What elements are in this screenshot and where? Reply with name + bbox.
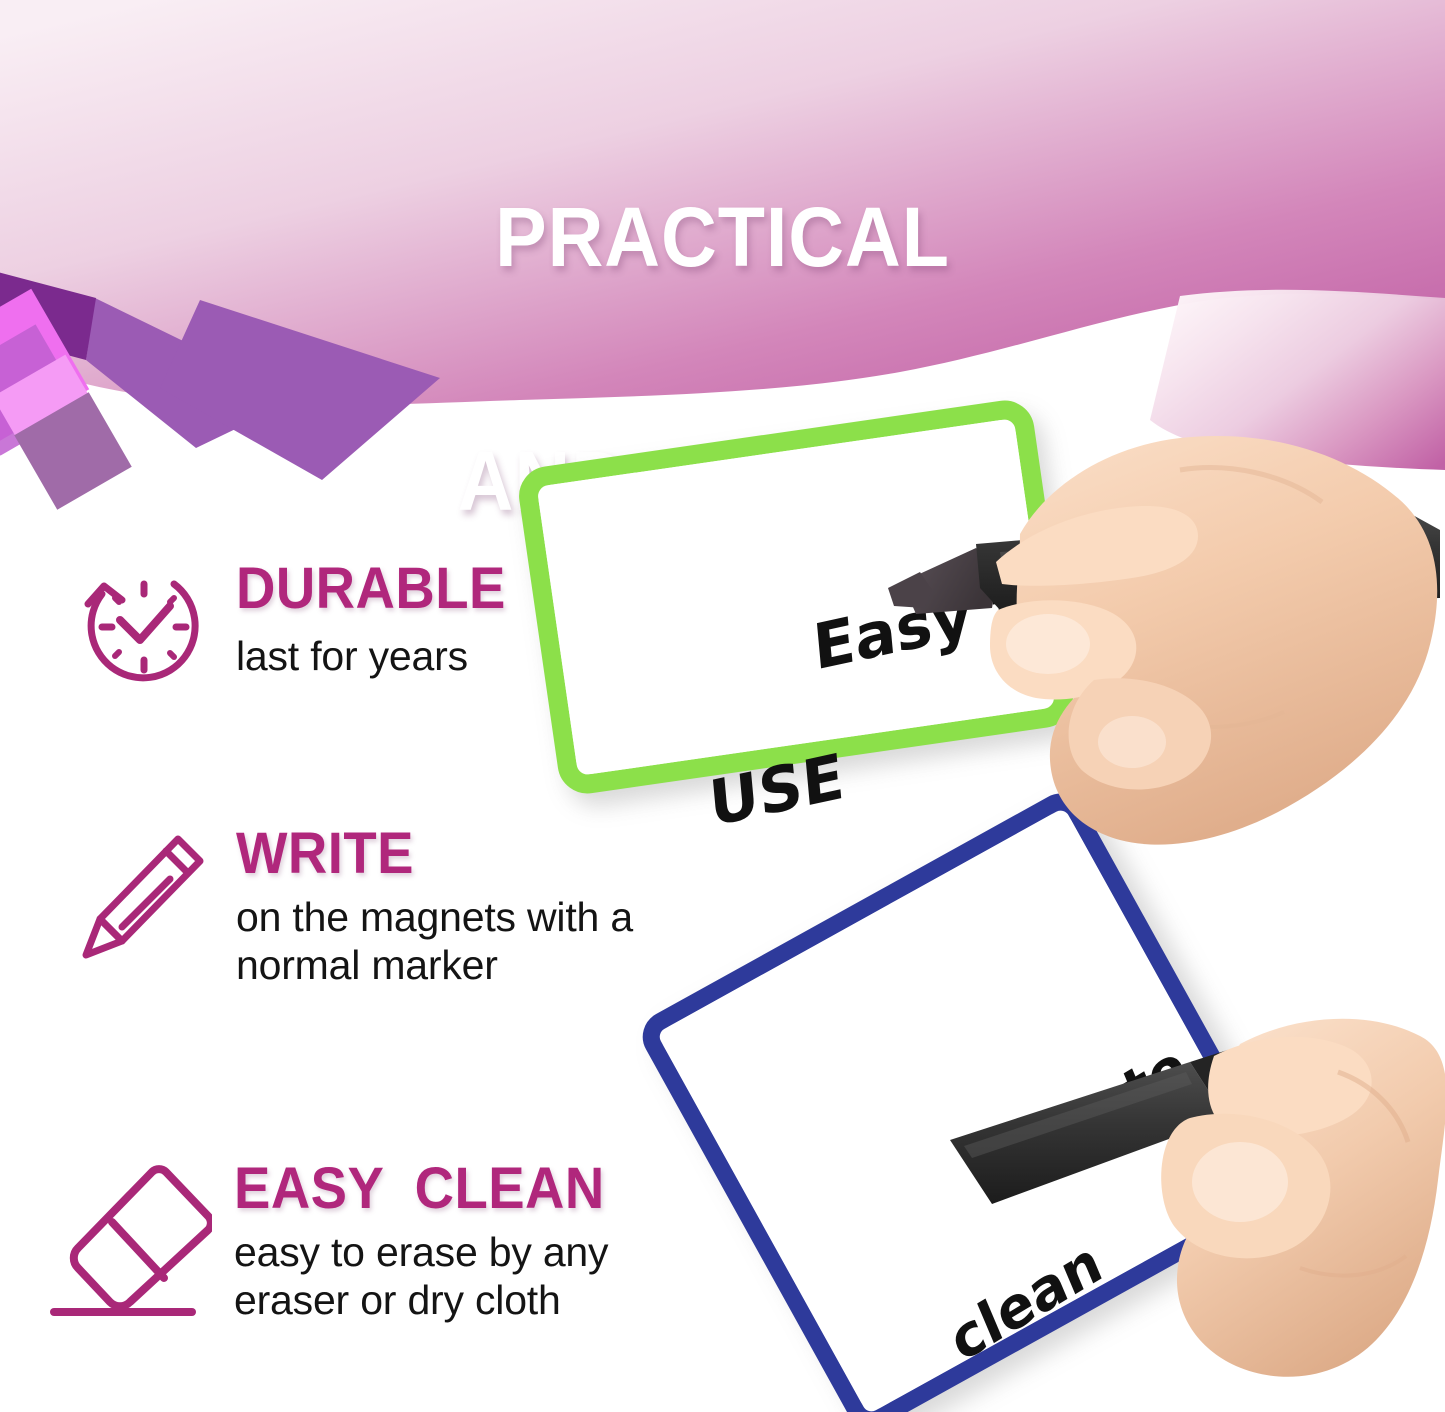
feature-easy-clean: EASY CLEAN easy to erase by any eraser o…: [42, 1160, 628, 1325]
feature-write-heading: WRITE: [236, 825, 609, 883]
feature-easy-clean-subtext: easy to erase by any eraser or dry cloth: [234, 1228, 628, 1325]
thumb-nail-2: [1192, 1142, 1288, 1222]
infographic-canvas: PRACTICAL AND USEFUL: [0, 0, 1445, 1412]
feature-easy-clean-text: EASY CLEAN easy to erase by any eraser o…: [234, 1160, 628, 1325]
eraser-icon: [42, 1160, 212, 1325]
clock-check-icon: [78, 560, 210, 697]
middle-finger-nail: [1098, 716, 1166, 768]
thumb-nail: [1006, 614, 1090, 674]
hand-with-marker-photo: [880, 412, 1445, 882]
feature-write: WRITE on the magnets with a normal marke…: [78, 825, 633, 990]
feature-durable-heading: DURABLE: [236, 560, 506, 618]
hand-with-eraser-photo: [940, 1000, 1445, 1412]
feature-write-subtext: on the magnets with a normal marker: [236, 893, 633, 990]
feature-durable-subtext: last for years: [236, 632, 523, 680]
feature-write-text: WRITE on the magnets with a normal marke…: [236, 825, 633, 990]
feature-durable-text: DURABLE last for years: [236, 560, 523, 680]
decor-shapes: [0, 0, 320, 290]
feature-durable: DURABLE last for years: [78, 560, 523, 697]
pencil-icon: [78, 825, 210, 980]
shape-triangle-big: [140, 292, 560, 592]
feature-easy-clean-heading: EASY CLEAN: [234, 1160, 605, 1218]
